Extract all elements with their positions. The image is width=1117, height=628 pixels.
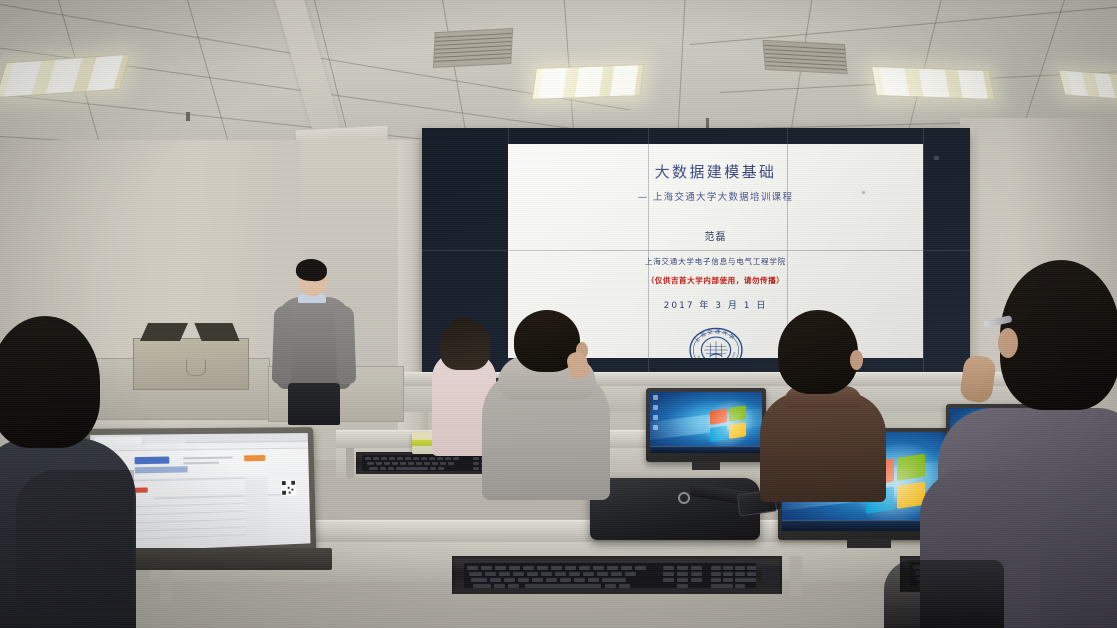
desk-leg: [346, 448, 354, 478]
ceiling-light-fixture: [531, 64, 644, 100]
bag-buckle-icon: [678, 492, 690, 504]
puffer-shoulder-shadow: [16, 470, 134, 628]
desk-leg: [790, 556, 802, 596]
windows-taskbar[interactable]: [650, 446, 762, 453]
puffer-head: [0, 316, 100, 448]
video-wall-bezel: [508, 250, 923, 251]
glasses-person-head: [1000, 260, 1117, 410]
slide-date: 2017 年 3 月 1 日: [664, 298, 768, 311]
monitor-screen[interactable]: [650, 392, 762, 453]
browser-toolbar[interactable]: [90, 442, 308, 452]
air-vent-grille: [762, 40, 847, 74]
brown-jacket-body: [760, 392, 886, 502]
laptop-bag: [590, 478, 760, 540]
sjtu-seal-icon: 上海交通大学 SHANGHAI JIAO TONG UNIVERSITY: [689, 323, 743, 358]
mouse-pad-area: [762, 566, 780, 584]
search-input[interactable]: [135, 466, 188, 473]
air-vent-grille: [433, 28, 513, 68]
desktop-icons[interactable]: [653, 395, 658, 435]
keyboard-tray: [452, 556, 782, 594]
monitor-stand: [692, 461, 721, 470]
slide-subtitle: — 上海交通大学大数据培训课程: [638, 189, 794, 203]
classroom-photo: 大数据建模基础 — 上海交通大学大数据培训课程 范磊 上海交通大学电子信息与电气…: [0, 0, 1117, 628]
slide-title: 大数据建模基础: [655, 165, 777, 180]
primary-action-button[interactable]: [244, 455, 265, 461]
brown-jacket-head: [778, 310, 858, 394]
slide-affiliation: 上海交通大学电子信息与电气工程学院: [645, 256, 786, 267]
windows-logo-icon: [710, 405, 748, 444]
video-wall-bezel: [648, 144, 649, 358]
site-logo-icon: [135, 457, 170, 465]
student-pink-hair: [440, 318, 490, 370]
glasses-person-ear: [998, 328, 1018, 358]
slide-author: 范磊: [705, 228, 727, 243]
fragile-label-icon: [186, 359, 206, 376]
foreground-shadow-mass: [884, 560, 1004, 628]
slide-usage-notice: （仅供吉首大学内部使用，请勿传播）: [647, 275, 785, 286]
screen-marker: [934, 156, 939, 160]
keyboard[interactable]: [464, 563, 756, 588]
monitor-stand: [847, 539, 891, 548]
brown-jacket-ear: [850, 350, 863, 370]
presenter-arm-right: [335, 306, 357, 385]
presenter-trousers: [288, 383, 340, 425]
cardboard-boxes: [133, 338, 249, 390]
sprinkler-head: [186, 112, 190, 121]
qr-code-icon: [281, 480, 296, 496]
sprinkler-head: [706, 118, 709, 128]
lcd-video-wall: 大数据建模基础 — 上海交通大学大数据培训课程 范磊 上海交通大学电子信息与电气…: [422, 128, 970, 374]
svg-text:上海交通大学: 上海交通大学: [692, 327, 737, 344]
monitor-back-center: [646, 388, 766, 462]
ceiling-light-fixture: [871, 66, 995, 100]
screen-marker: [862, 191, 865, 194]
sidebar-panel: [245, 477, 270, 543]
presenter-arm-left: [272, 306, 294, 385]
